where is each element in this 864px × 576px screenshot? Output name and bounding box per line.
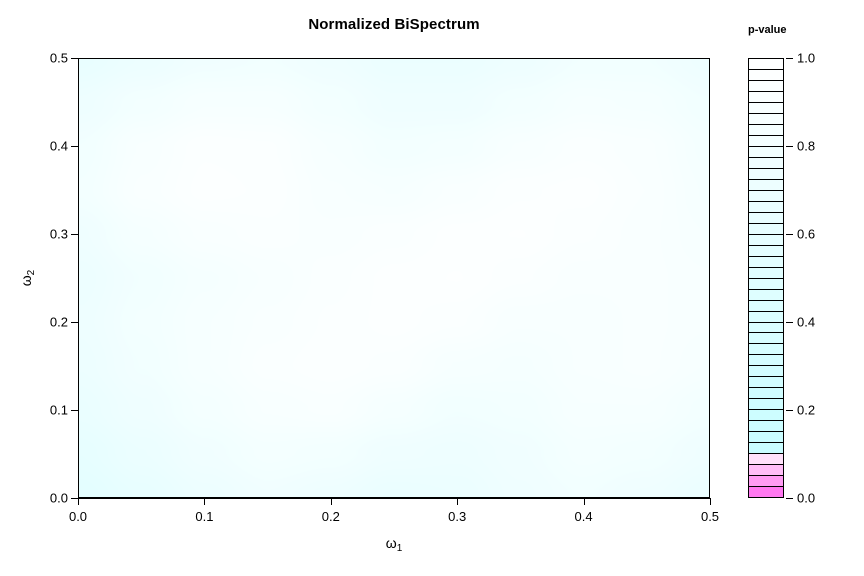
y-axis-tick [71, 234, 78, 235]
x-axis-tick-label: 0.4 [575, 509, 593, 524]
colorbar-segment [749, 168, 783, 179]
colorbar-segment [749, 409, 783, 420]
colorbar-segment [749, 146, 783, 157]
colorbar [748, 58, 784, 498]
y-axis-tick-label: 0.4 [38, 139, 68, 154]
y-axis-tick [71, 322, 78, 323]
colorbar-tick-label: 0.4 [797, 315, 815, 330]
colorbar-segment [749, 322, 783, 333]
colorbar-title: p-value [748, 24, 787, 36]
colorbar-segment [749, 453, 783, 464]
colorbar-segment [749, 300, 783, 311]
colorbar-segment [749, 387, 783, 398]
colorbar-tick-label: 1.0 [797, 51, 815, 66]
x-axis-title-symbol: ω [386, 535, 397, 551]
x-axis-tick-label: 0.0 [69, 509, 87, 524]
x-axis-tick [331, 498, 332, 505]
x-axis-title: ω1 [386, 535, 403, 551]
colorbar-tick-label: 0.2 [797, 403, 815, 418]
colorbar-tick [786, 410, 793, 411]
x-axis-title-subscript: 1 [397, 543, 403, 554]
colorbar-segment [749, 486, 783, 497]
x-axis-tick [584, 498, 585, 505]
x-axis-tick [457, 498, 458, 505]
colorbar-segment [749, 113, 783, 124]
colorbar-segment [749, 311, 783, 322]
colorbar-tick-label: 0.6 [797, 227, 815, 242]
colorbar-segment [749, 256, 783, 267]
colorbar-segment [749, 234, 783, 245]
colorbar-segment [749, 267, 783, 278]
colorbar-segment [749, 80, 783, 91]
page-title: Normalized BiSpectrum [78, 16, 710, 33]
colorbar-segment [749, 124, 783, 135]
colorbar-segment [749, 190, 783, 201]
y-axis-tick-label: 0.0 [38, 491, 68, 506]
colorbar-segment [749, 179, 783, 190]
y-axis-title-symbol: ω [18, 275, 34, 286]
colorbar-tick [786, 146, 793, 147]
y-axis-title: ω2 [18, 270, 34, 287]
x-axis-tick-label: 0.3 [448, 509, 466, 524]
colorbar-segment [749, 376, 783, 387]
plot-root: Normalized BiSpectrum ω1 ω2 0.00.10.20.3… [0, 0, 864, 576]
colorbar-segment [749, 332, 783, 343]
colorbar-tick [786, 58, 793, 59]
y-axis-tick-label: 0.3 [38, 227, 68, 242]
colorbar-segment [749, 245, 783, 256]
colorbar-segment [749, 102, 783, 113]
colorbar-segment [749, 475, 783, 486]
colorbar-segment [749, 420, 783, 431]
y-axis-tick [71, 58, 78, 59]
colorbar-segment [749, 212, 783, 223]
heatmap-panel [78, 58, 710, 498]
x-axis-tick-label: 0.2 [322, 509, 340, 524]
colorbar-segment [749, 365, 783, 376]
colorbar-tick [786, 322, 793, 323]
colorbar-segment [749, 223, 783, 234]
x-axis-line [78, 498, 710, 499]
colorbar-segment [749, 354, 783, 365]
colorbar-segment [749, 201, 783, 212]
colorbar-segment [749, 135, 783, 146]
y-axis-tick-label: 0.2 [38, 315, 68, 330]
x-axis-tick [78, 498, 79, 505]
colorbar-segment [749, 343, 783, 354]
colorbar-tick-label: 0.8 [797, 139, 815, 154]
colorbar-segment [749, 431, 783, 442]
x-axis-tick [204, 498, 205, 505]
y-axis-tick-label: 0.1 [38, 403, 68, 418]
colorbar-tick [786, 234, 793, 235]
colorbar-segment [749, 289, 783, 300]
x-axis-tick-label: 0.1 [195, 509, 213, 524]
y-axis-title-subscript: 2 [26, 270, 37, 276]
colorbar-segment [749, 278, 783, 289]
colorbar-tick [786, 498, 793, 499]
y-axis-tick-label: 0.5 [38, 51, 68, 66]
colorbar-segment [749, 59, 783, 69]
y-axis-line [78, 58, 79, 498]
y-axis-tick [71, 498, 78, 499]
heatmap-canvas [79, 59, 709, 497]
x-axis-tick [710, 498, 711, 505]
colorbar-segment [749, 157, 783, 168]
colorbar-segment [749, 91, 783, 102]
colorbar-segment [749, 464, 783, 475]
colorbar-segment [749, 69, 783, 80]
colorbar-tick-label: 0.0 [797, 491, 815, 506]
x-axis-tick-label: 0.5 [701, 509, 719, 524]
colorbar-segment [749, 442, 783, 453]
y-axis-tick [71, 146, 78, 147]
y-axis-tick [71, 410, 78, 411]
colorbar-segment [749, 398, 783, 409]
